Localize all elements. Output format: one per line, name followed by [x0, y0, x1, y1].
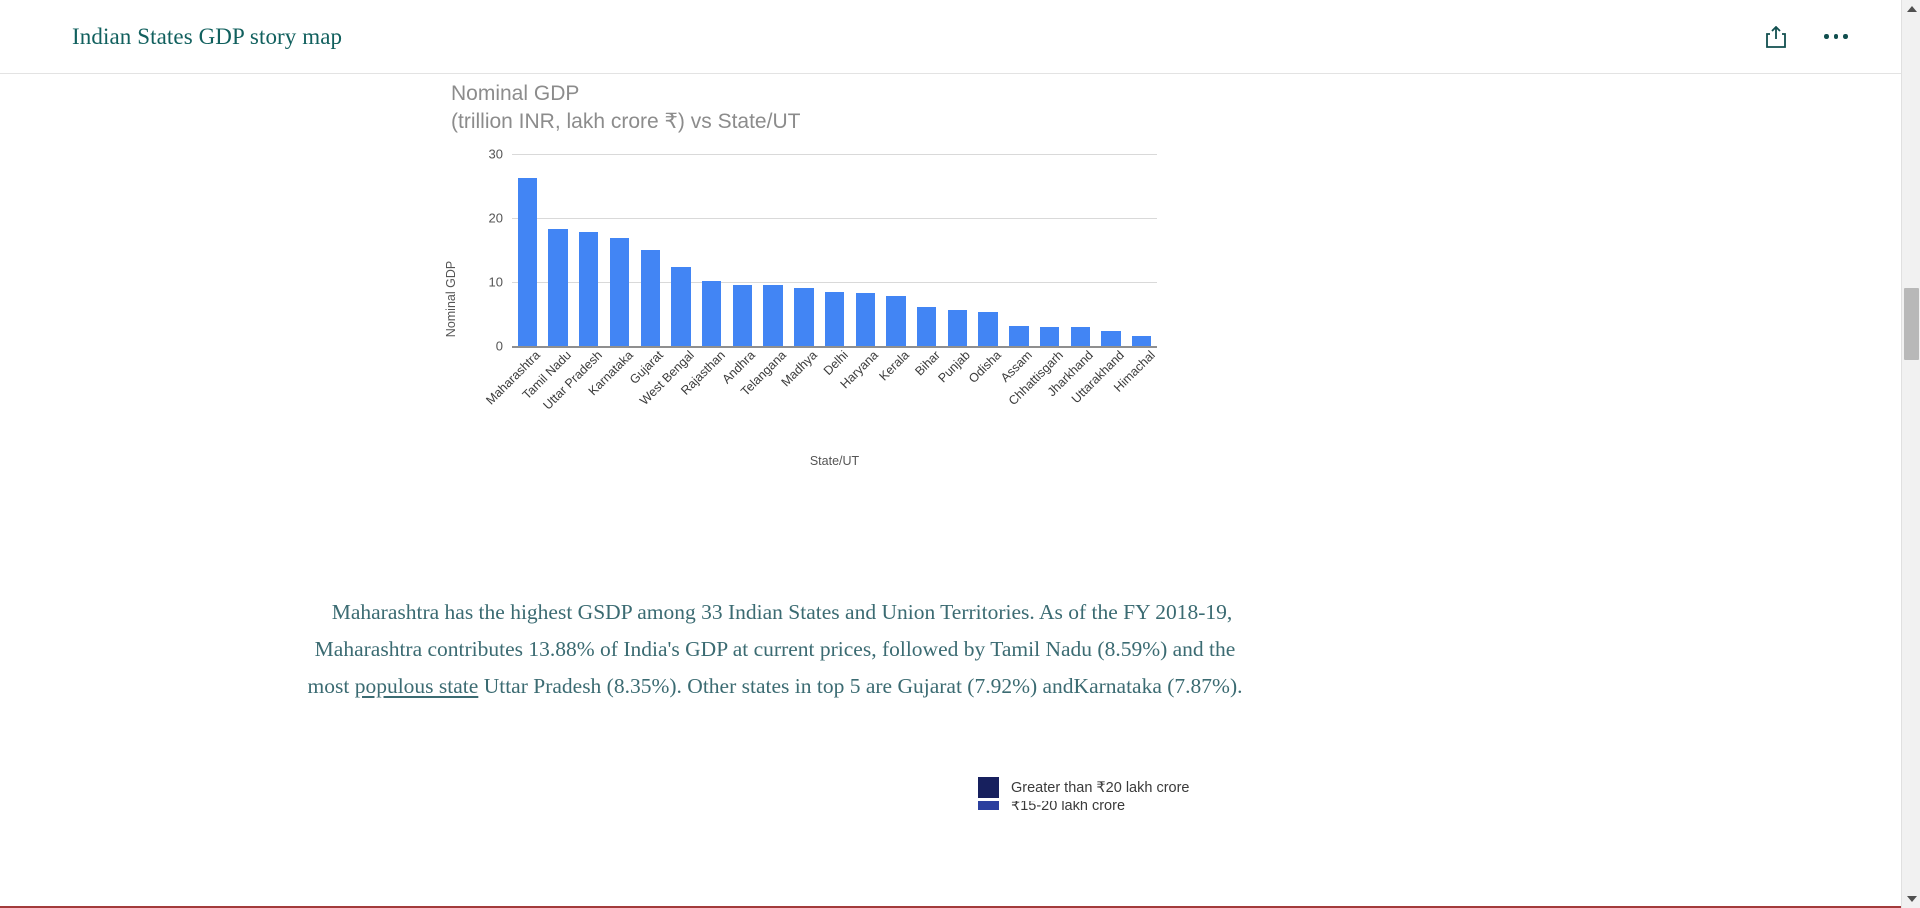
bar-slot [788, 154, 819, 346]
bar-slot [1096, 154, 1127, 346]
bar[interactable] [518, 178, 537, 346]
legend-item: Greater than ₹20 lakh crore [978, 774, 1398, 801]
scroll-up-arrow-icon [1907, 6, 1917, 12]
bar[interactable] [1071, 327, 1090, 346]
more-options-button[interactable] [1819, 20, 1853, 54]
share-button[interactable] [1759, 20, 1793, 54]
bar-slot [1126, 154, 1157, 346]
populous-state-link[interactable]: populous state [355, 674, 479, 698]
y-axis-tick-label: 0 [496, 339, 503, 354]
legend-item: ₹15-20 lakh crore [978, 801, 1398, 810]
app-header: Indian States GDP story map [0, 0, 1901, 74]
bar-slot [819, 154, 850, 346]
x-axis-tick-label: Odisha [966, 348, 1004, 386]
bar[interactable] [610, 238, 629, 346]
plot-area: 0102030 [512, 154, 1169, 346]
bar-slot [573, 154, 604, 346]
x-axis-tick-labels: MaharashtraTamil NaduUttar PradeshKarnat… [512, 348, 1157, 444]
bar[interactable] [579, 232, 598, 346]
bar-slot [635, 154, 666, 346]
bar[interactable] [1009, 326, 1028, 346]
x-axis-tick-label: Kerala [876, 348, 911, 383]
legend-color-swatch [978, 801, 999, 810]
bar[interactable] [702, 281, 721, 346]
bar[interactable] [671, 267, 690, 346]
bar[interactable] [1040, 327, 1059, 346]
story-content: Nominal GDP (trillion INR, lakh crore ₹)… [0, 74, 1901, 908]
bar[interactable] [917, 307, 936, 346]
bar[interactable] [641, 250, 660, 346]
chart-title-line1: Nominal GDP [451, 80, 1169, 108]
bar-slot [727, 154, 758, 346]
map-legend: Greater than ₹20 lakh crore₹15-20 lakh c… [978, 774, 1398, 810]
bar[interactable] [733, 285, 752, 346]
vertical-scrollbar[interactable] [1901, 0, 1920, 908]
bar-slot [604, 154, 635, 346]
bar-slot [696, 154, 727, 346]
bar-series [512, 154, 1157, 346]
bar-slot [1004, 154, 1035, 346]
legend-item-label: ₹15-20 lakh crore [1011, 801, 1125, 810]
bar-slot [666, 154, 697, 346]
story-paragraph: Maharashtra has the highest GSDP among 3… [300, 594, 1250, 705]
y-axis-tick-label: 30 [489, 147, 503, 162]
paragraph-text-after-link: Uttar Pradesh (8.35%). Other states in t… [478, 674, 1242, 698]
legend-color-swatch [978, 777, 999, 798]
bar-slot [543, 154, 574, 346]
legend-item-label: Greater than ₹20 lakh crore [1011, 780, 1189, 796]
bar-slot [512, 154, 543, 346]
bar-slot [1065, 154, 1096, 346]
bar[interactable] [763, 285, 782, 346]
bar[interactable] [978, 312, 997, 346]
scroll-down-arrow-icon [1907, 896, 1917, 902]
scroll-down-button[interactable] [1902, 890, 1920, 908]
bar[interactable] [948, 310, 967, 346]
scroll-up-button[interactable] [1902, 0, 1920, 18]
bar[interactable] [1132, 336, 1151, 346]
chart-title-line2: (trillion INR, lakh crore ₹) vs State/UT [451, 108, 1169, 136]
bar-slot [973, 154, 1004, 346]
gdp-bar-chart: Nominal GDP (trillion INR, lakh crore ₹)… [449, 80, 1169, 480]
bar-slot [881, 154, 912, 346]
header-actions [1759, 20, 1853, 54]
page-title: Indian States GDP story map [72, 24, 342, 50]
bar-slot [942, 154, 973, 346]
bar-slot [758, 154, 789, 346]
y-axis-title: Nominal GDP [444, 261, 458, 337]
bar[interactable] [886, 296, 905, 346]
y-axis-tick-label: 10 [489, 275, 503, 290]
plot-wrapper: Nominal GDP 0102030 MaharashtraTamil Nad… [449, 144, 1169, 464]
bar[interactable] [1101, 331, 1120, 346]
bar-slot [850, 154, 881, 346]
x-axis-title: State/UT [512, 454, 1157, 468]
more-options-icon [1824, 34, 1848, 39]
bar-slot [1034, 154, 1065, 346]
bar[interactable] [825, 292, 844, 346]
x-axis-tick-label: Punjab [936, 348, 973, 385]
y-axis-tick-label: 20 [489, 211, 503, 226]
bar[interactable] [548, 229, 567, 346]
bar[interactable] [794, 288, 813, 346]
bar[interactable] [856, 293, 875, 346]
scroll-thumb[interactable] [1904, 288, 1919, 360]
share-icon [1766, 26, 1786, 48]
page-root: Indian States GDP story map [0, 0, 1920, 908]
bar-slot [911, 154, 942, 346]
